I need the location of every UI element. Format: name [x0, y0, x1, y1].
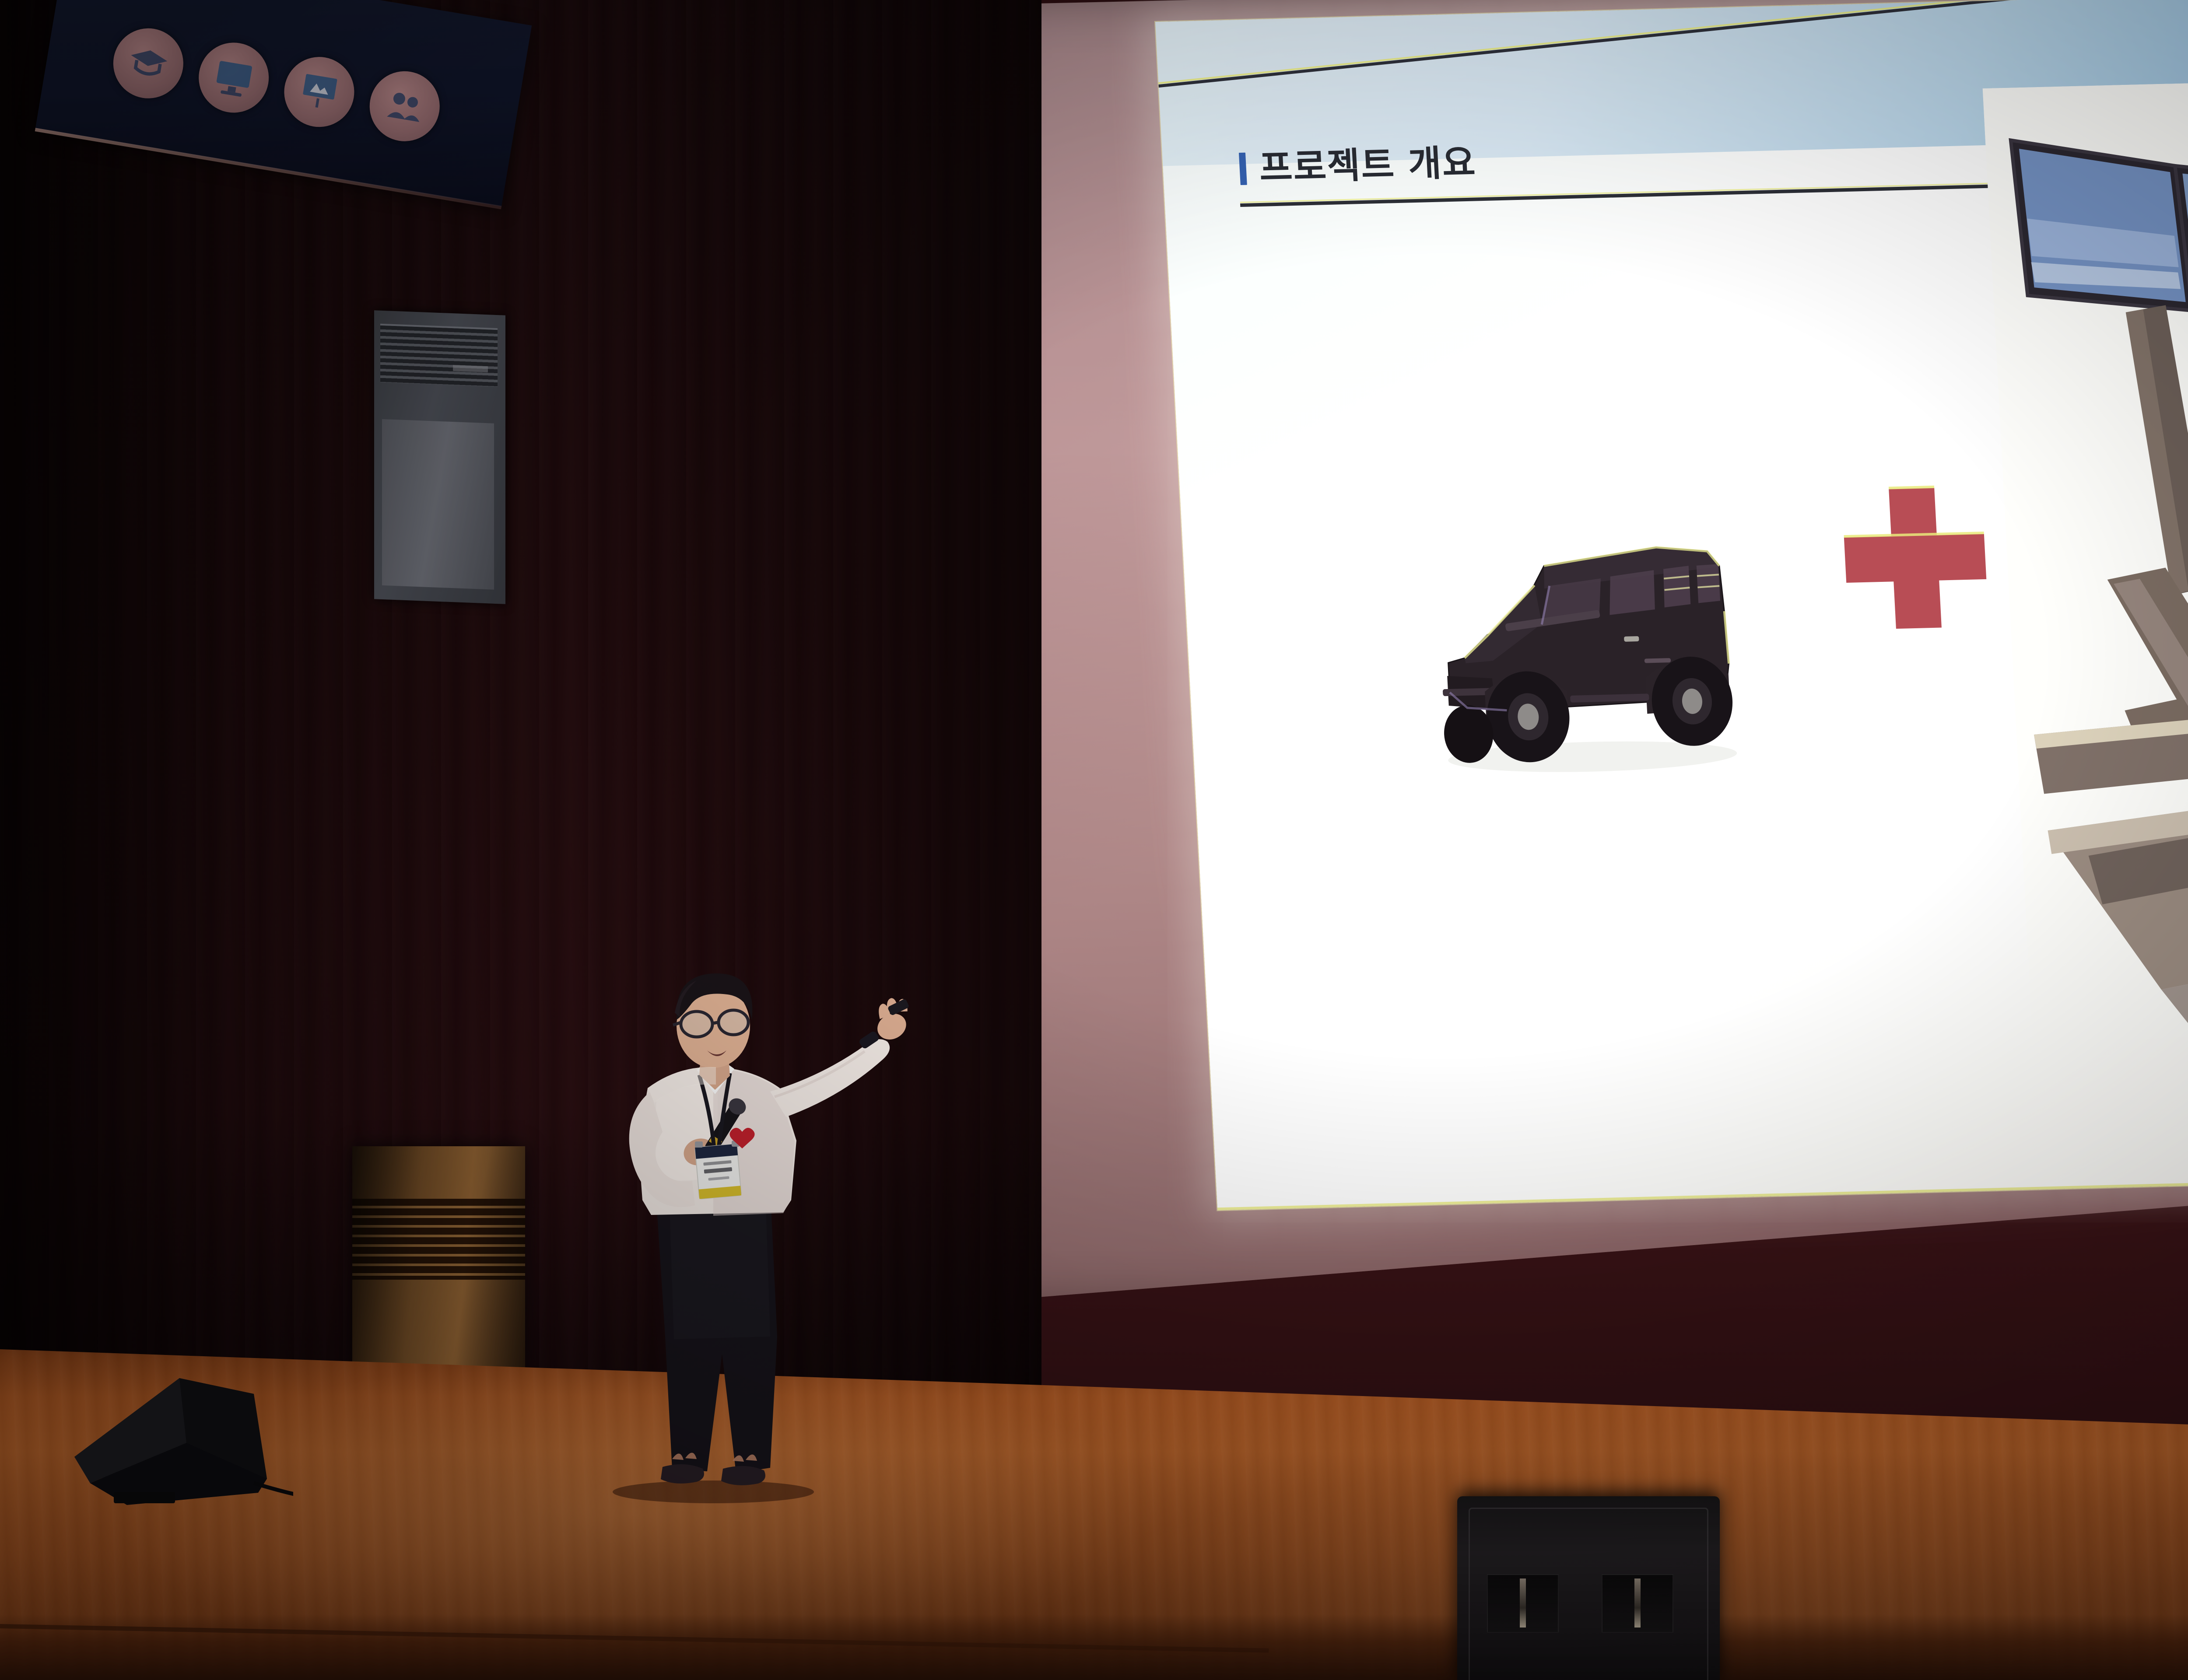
plus-horizontal-bar	[1844, 534, 1986, 583]
stage-monitor-speaker	[48, 1352, 293, 1536]
presentation-screen-icon	[279, 52, 359, 132]
title-accent-bar	[1239, 153, 1247, 185]
case-latch-left	[1487, 1574, 1559, 1633]
banner-icon-row	[108, 23, 445, 147]
people-icon	[365, 66, 445, 147]
slide-title-row: 프로젝트 개요	[1239, 145, 1477, 187]
foreground-equipment-case	[1457, 1496, 1720, 1680]
plus-sign-icon: +	[1841, 486, 1989, 630]
hvac-grille	[380, 324, 498, 387]
auditorium-stage-scene: 프로젝트 개요	[0, 0, 2188, 1680]
plus-symbol-text: +	[1841, 490, 1842, 490]
hvac-front-panel	[382, 419, 494, 590]
slide-canvas: 프로젝트 개요	[1155, 0, 2188, 1210]
wall-hvac-unit	[374, 310, 505, 604]
monitor-icon	[193, 37, 274, 118]
presenter	[582, 960, 923, 1507]
slide-title: 프로젝트 개요	[1259, 145, 1477, 186]
rc-offroad-truck-image	[1390, 479, 1787, 790]
graduation-cap-icon	[108, 23, 189, 104]
case-latch-right	[1602, 1574, 1673, 1633]
projected-slide: 프로젝트 개요	[1155, 0, 2188, 1210]
stage-apron	[0, 1614, 2188, 1680]
racing-simulator-image: CKAS	[1983, 74, 2188, 1041]
